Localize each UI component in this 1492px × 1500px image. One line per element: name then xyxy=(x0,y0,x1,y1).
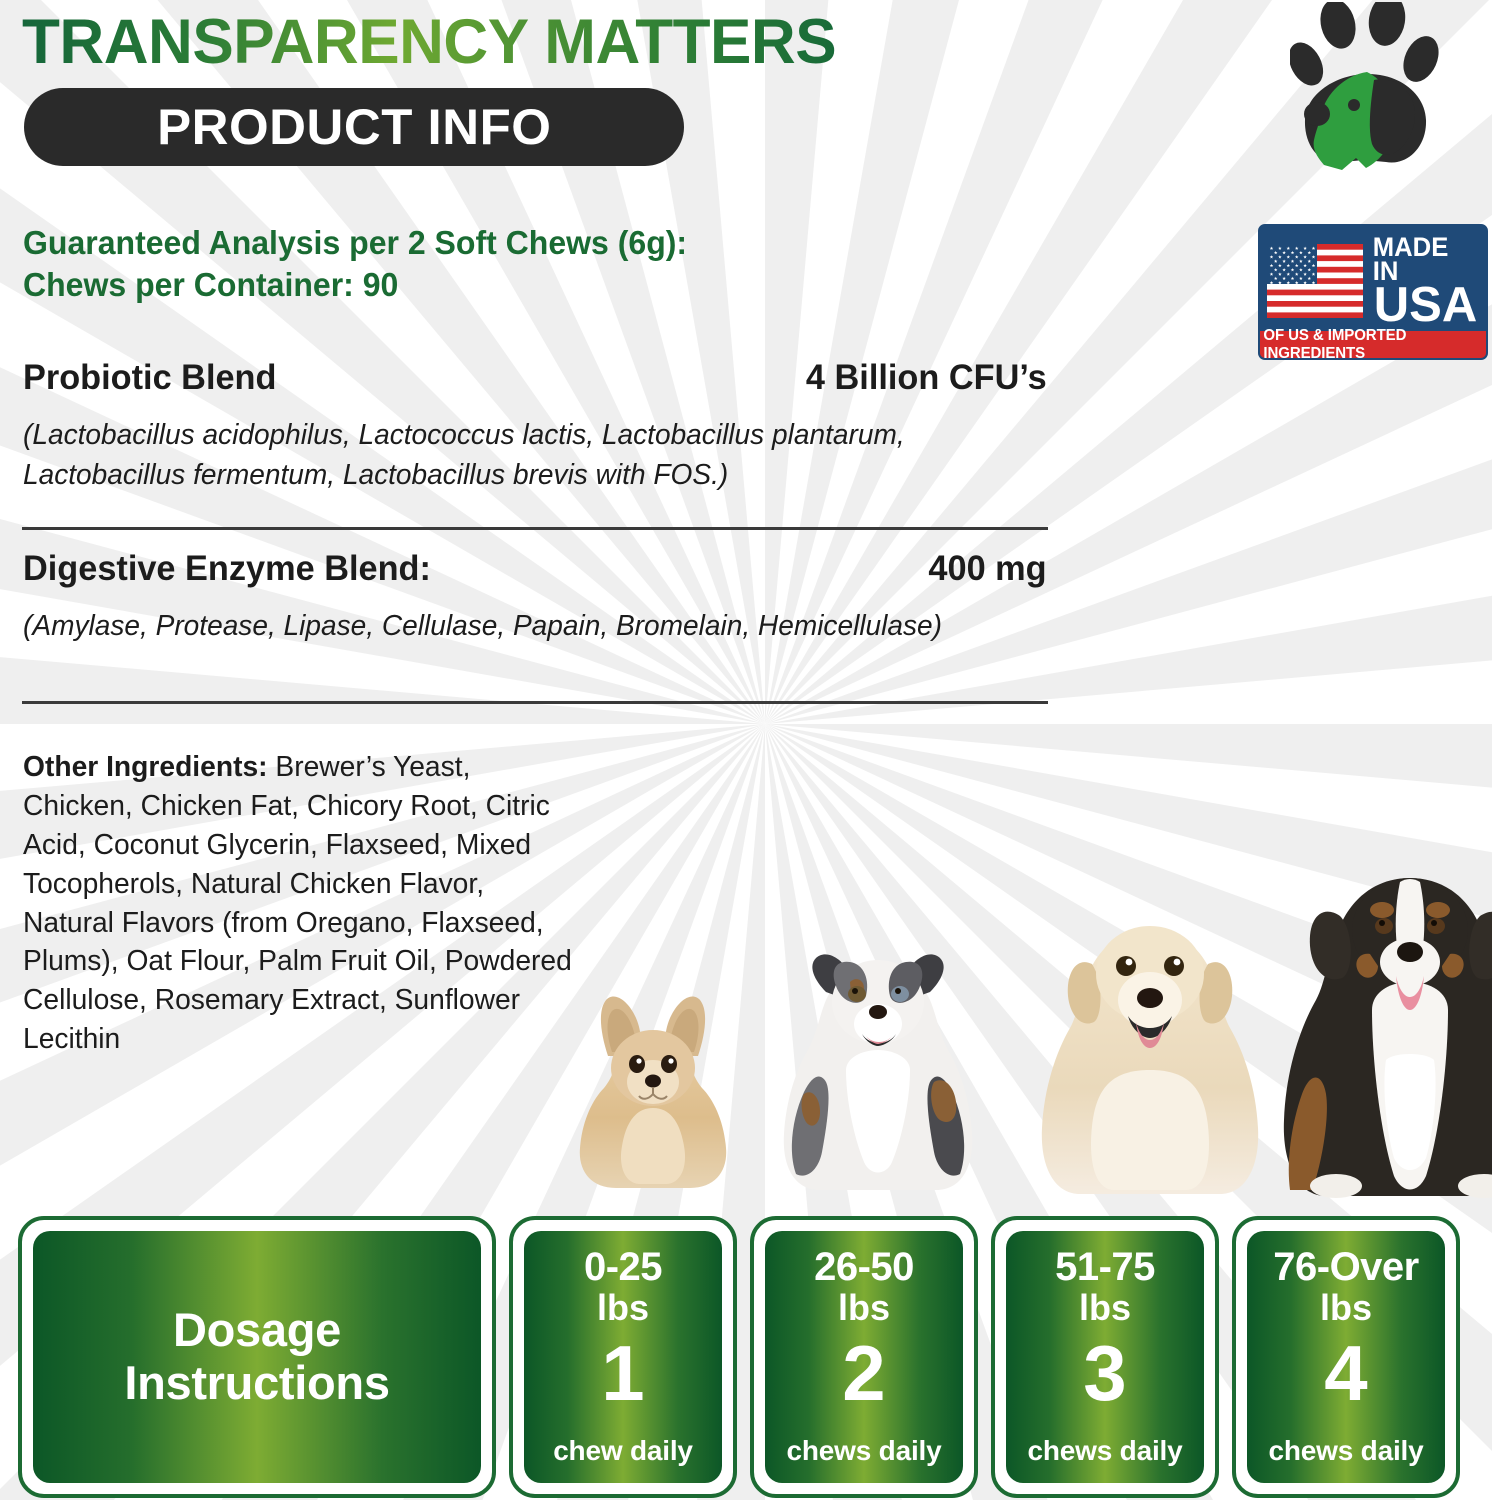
australian-shepherd-dog-photo xyxy=(784,954,972,1190)
weight-range: 26-50 xyxy=(814,1247,914,1287)
dosage-card-inner: 51-75 lbs 3 chews daily xyxy=(1006,1231,1204,1483)
chew-count: 1 xyxy=(601,1334,644,1412)
made-in-usa-badge: MADE IN USA OF US & IMPORTED INGREDIENTS xyxy=(1258,224,1488,360)
nutrient-name: Digestive Enzyme Blend: xyxy=(23,549,431,589)
dosage-card-26-50: 26-50 lbs 2 chews daily xyxy=(750,1216,978,1498)
other-ingredients-label: Other Ingredients: xyxy=(23,751,268,783)
guaranteed-analysis: Guaranteed Analysis per 2 Soft Chews (6g… xyxy=(23,222,708,306)
chew-count: 2 xyxy=(842,1334,885,1412)
dosage-card-inner: 0-25 lbs 1 chew daily xyxy=(524,1231,722,1483)
other-ingredients-list: Brewer’s Yeast, Chicken, Chicken Fat, Ch… xyxy=(23,751,572,1055)
guaranteed-analysis-line1: Guaranteed Analysis per 2 Soft Chews (6g… xyxy=(23,222,687,264)
header: TRANSPARENCY MATTERS PRODUCT INFO xyxy=(0,0,1492,200)
made-in-text: MADE IN xyxy=(1373,235,1478,284)
nutrient-row-probiotic: Probiotic Blend 4 Billion CFU’s xyxy=(23,358,1047,398)
usa-badge-top: MADE IN USA xyxy=(1260,226,1486,331)
dosage-title-line2: Instructions xyxy=(124,1357,389,1410)
page-title: TRANSPARENCY MATTERS xyxy=(22,6,836,78)
product-info-label: PRODUCT INFO xyxy=(157,98,551,156)
weight-unit-label: lbs xyxy=(838,1287,890,1328)
usa-badge-words: MADE IN USA xyxy=(1370,235,1481,326)
usa-text: USA xyxy=(1374,284,1477,326)
us-flag-icon xyxy=(1267,244,1363,318)
guaranteed-analysis-line2: Chews per Container: 90 xyxy=(23,264,687,306)
other-ingredients: Other Ingredients: Brewer’s Yeast, Chick… xyxy=(23,748,577,1059)
usa-badge-footer: OF US & IMPORTED INGREDIENTS xyxy=(1260,331,1486,358)
nutrient-detail-enzyme: (Amylase, Protease, Lipase, Cellulase, P… xyxy=(23,606,1038,646)
nutrient-amount: 400 mg xyxy=(929,549,1047,589)
nutrient-amount: 4 Billion CFU’s xyxy=(806,358,1047,398)
golden-retriever-dog-photo xyxy=(1042,926,1258,1194)
weight-unit-label: lbs xyxy=(1079,1287,1131,1328)
dosage-card-inner: 76-Over lbs 4 chews daily xyxy=(1247,1231,1445,1483)
paw-print-dog-head-logo xyxy=(1290,2,1470,192)
weight-range: 0-25 xyxy=(584,1247,662,1287)
chew-count: 3 xyxy=(1083,1334,1126,1412)
dosage-card-51-75: 51-75 lbs 3 chews daily xyxy=(991,1216,1219,1498)
usa-badge-footer-text: OF US & IMPORTED INGREDIENTS xyxy=(1263,327,1482,361)
divider-2 xyxy=(22,701,1048,704)
nutrient-name: Probiotic Blend xyxy=(23,358,276,398)
nutrient-detail-probiotic: (Lactobacillus acidophilus, Lactococcus … xyxy=(23,415,1038,496)
chew-unit-label: chews daily xyxy=(787,1435,942,1467)
dosage-card-inner: 26-50 lbs 2 chews daily xyxy=(765,1231,963,1483)
nutrient-row-enzyme: Digestive Enzyme Blend: 400 mg xyxy=(23,549,1047,589)
bernese-mountain-dog-photo xyxy=(1284,878,1492,1198)
chew-unit-label: chew daily xyxy=(553,1435,693,1467)
weight-range: 76-Over xyxy=(1273,1247,1418,1287)
chew-count: 4 xyxy=(1324,1334,1367,1412)
divider-1 xyxy=(22,527,1048,530)
chew-unit-label: chews daily xyxy=(1269,1435,1424,1467)
dosage-instructions-card: Dosage Instructions xyxy=(18,1216,496,1498)
dosage-instructions-inner: Dosage Instructions xyxy=(33,1231,481,1483)
product-info-pill: PRODUCT INFO xyxy=(24,88,684,166)
dosage-strip: Dosage Instructions 0-25 lbs 1 chew dail… xyxy=(0,1216,1492,1498)
dog-size-lineup xyxy=(520,770,1492,1200)
dosage-card-0-25: 0-25 lbs 1 chew daily xyxy=(509,1216,737,1498)
chihuahua-dog-photo xyxy=(580,996,726,1188)
dosage-card-76-over: 76-Over lbs 4 chews daily xyxy=(1232,1216,1460,1498)
weight-range: 51-75 xyxy=(1055,1247,1155,1287)
weight-unit-label: lbs xyxy=(597,1287,649,1328)
dosage-title-line1: Dosage xyxy=(173,1304,341,1357)
chew-unit-label: chews daily xyxy=(1028,1435,1183,1467)
weight-unit-label: lbs xyxy=(1320,1287,1372,1328)
